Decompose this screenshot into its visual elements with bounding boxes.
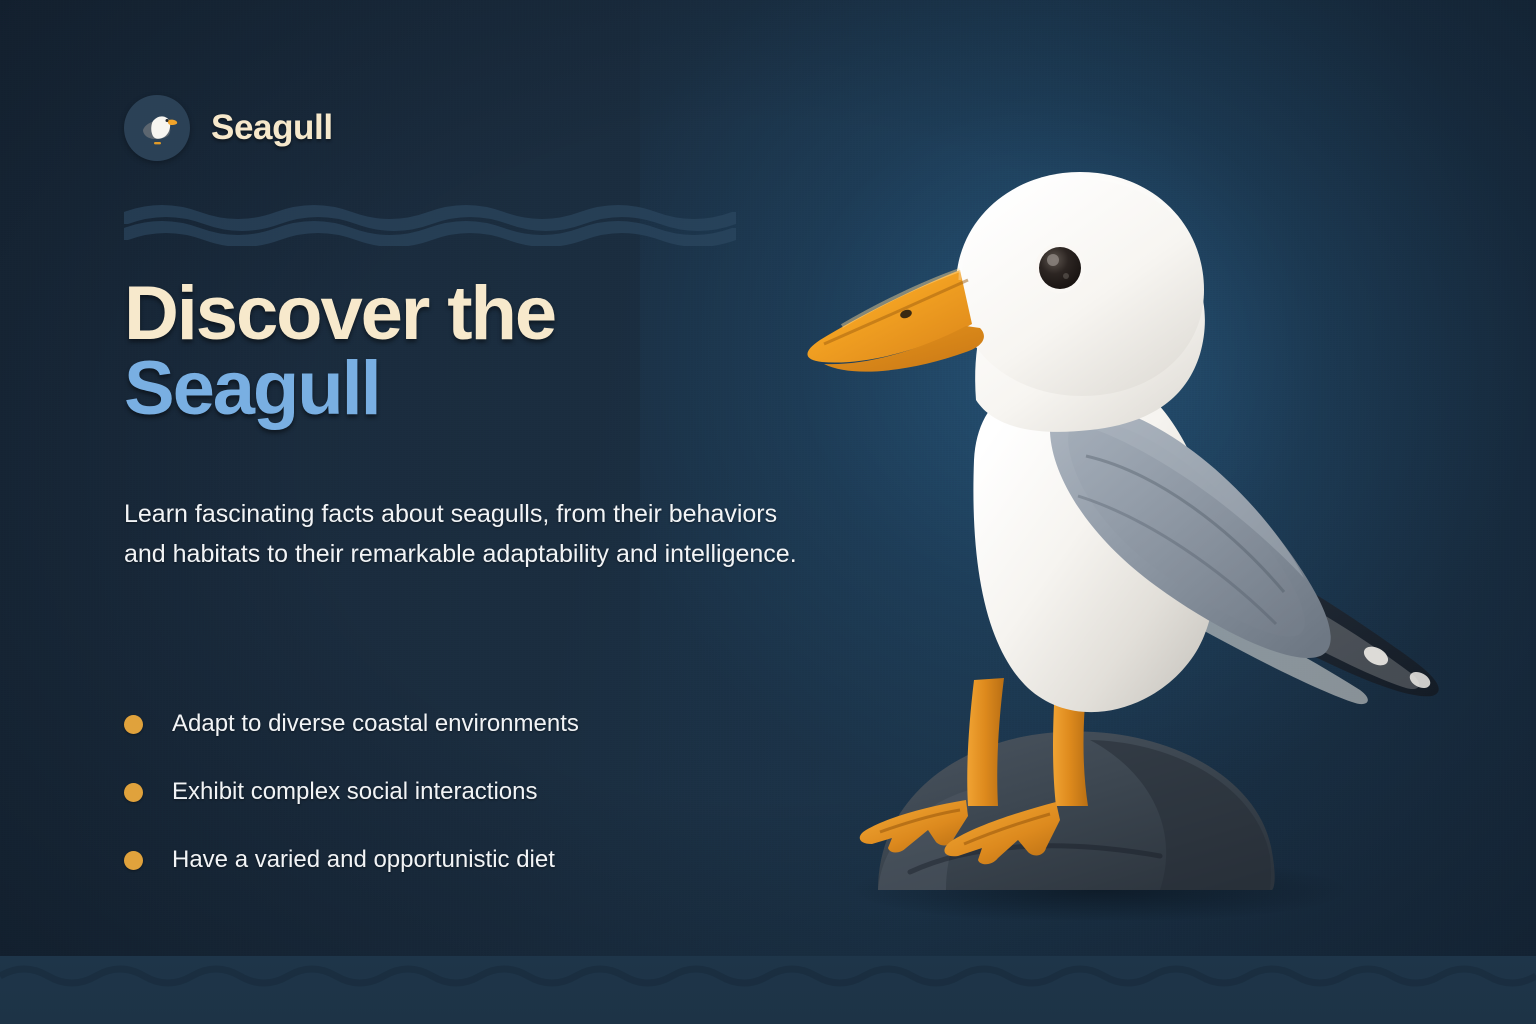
bullet-dot-icon	[124, 715, 143, 734]
beak	[807, 270, 983, 372]
page-title: Discover the Seagull	[124, 276, 814, 426]
bullet-dot-icon	[124, 783, 143, 802]
hero-banner: Seagull Discover the Seagull Learn fasci…	[0, 0, 1536, 1024]
bullet-dot-icon	[124, 851, 143, 870]
brand: Seagull	[124, 95, 333, 161]
feature-list: Adapt to diverse coastal environments Ex…	[124, 690, 804, 894]
wave-divider	[124, 198, 736, 246]
list-item: Have a varied and opportunistic diet	[124, 826, 804, 894]
seagull-illustration	[760, 100, 1500, 920]
eye	[1035, 243, 1085, 293]
brand-name: Seagull	[211, 108, 333, 148]
footer-band	[0, 956, 1536, 1024]
headline-line-2: Seagull	[124, 351, 814, 426]
list-item: Adapt to diverse coastal environments	[124, 690, 804, 758]
list-item-label: Adapt to diverse coastal environments	[172, 710, 579, 738]
list-item-label: Have a varied and opportunistic diet	[172, 846, 555, 874]
hero-content: Seagull Discover the Seagull Learn fasci…	[124, 0, 824, 1024]
list-item-label: Exhibit complex social interactions	[172, 778, 538, 806]
hero-description: Learn fascinating facts about seagulls, …	[124, 495, 802, 574]
wave-pattern-icon	[0, 958, 1536, 992]
headline-line-1: Discover the	[124, 276, 814, 351]
seagull-icon	[124, 95, 190, 161]
list-item: Exhibit complex social interactions	[124, 758, 804, 826]
